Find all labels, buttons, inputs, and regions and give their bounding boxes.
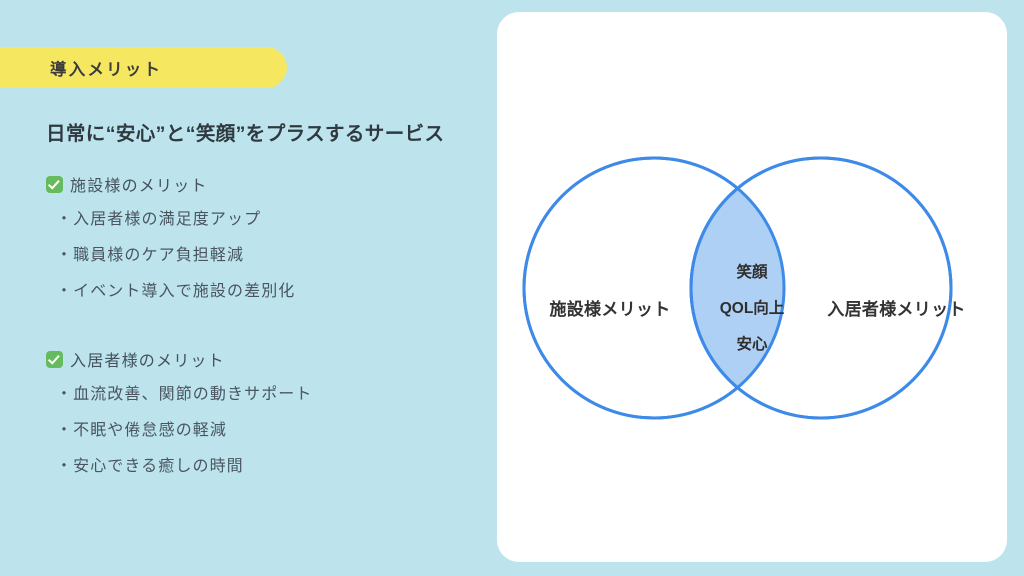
venn-label-right: 入居者様メリット: [799, 295, 994, 320]
diagram-card: 施設様メリット 入居者様メリット 笑顔 QOL向上 安心: [497, 12, 1007, 562]
section-badge: 導入メリット: [0, 47, 287, 88]
venn-intersection-line-2: QOL向上: [682, 291, 822, 327]
list-item: ・安心できる癒しの時間: [56, 453, 313, 481]
left-content-panel: 導入メリット 日常に“安心”と“笑顔”をプラスするサービス 施設様のメリット ・…: [0, 0, 490, 576]
venn-intersection-line-3: 安心: [682, 327, 822, 363]
benefit-group-resident-title: 入居者様のメリット: [46, 347, 313, 371]
venn-intersection-labels: 笑顔 QOL向上 安心: [682, 255, 822, 363]
list-item: ・不眠や倦怠感の軽減: [56, 417, 313, 445]
list-item: ・血流改善、関節の動きサポート: [56, 381, 313, 409]
page-title: 日常に“安心”と“笑顔”をプラスするサービス: [46, 117, 444, 146]
venn-intersection-line-1: 笑顔: [682, 255, 822, 291]
section-badge-label: 導入メリット: [50, 56, 162, 80]
check-icon: [46, 351, 63, 368]
benefit-group-resident: 入居者様のメリット ・血流改善、関節の動きサポート ・不眠や倦怠感の軽減 ・安心…: [46, 347, 313, 481]
list-item: ・職員様のケア負担軽減: [56, 242, 295, 270]
list-item: ・イベント導入で施設の差別化: [56, 278, 295, 306]
check-icon: [46, 176, 63, 193]
benefit-group-resident-label: 入居者様のメリット: [70, 347, 225, 371]
list-item: ・入居者様の満足度アップ: [56, 206, 295, 234]
slide-root: 導入メリット 日常に“安心”と“笑顔”をプラスするサービス 施設様のメリット ・…: [0, 0, 1024, 576]
venn-label-left: 施設様メリット: [515, 295, 705, 320]
benefit-group-facility-label: 施設様のメリット: [70, 172, 208, 196]
benefit-group-facility: 施設様のメリット ・入居者様の満足度アップ ・職員様のケア負担軽減 ・イベント導…: [46, 172, 295, 306]
benefit-group-facility-title: 施設様のメリット: [46, 172, 295, 196]
